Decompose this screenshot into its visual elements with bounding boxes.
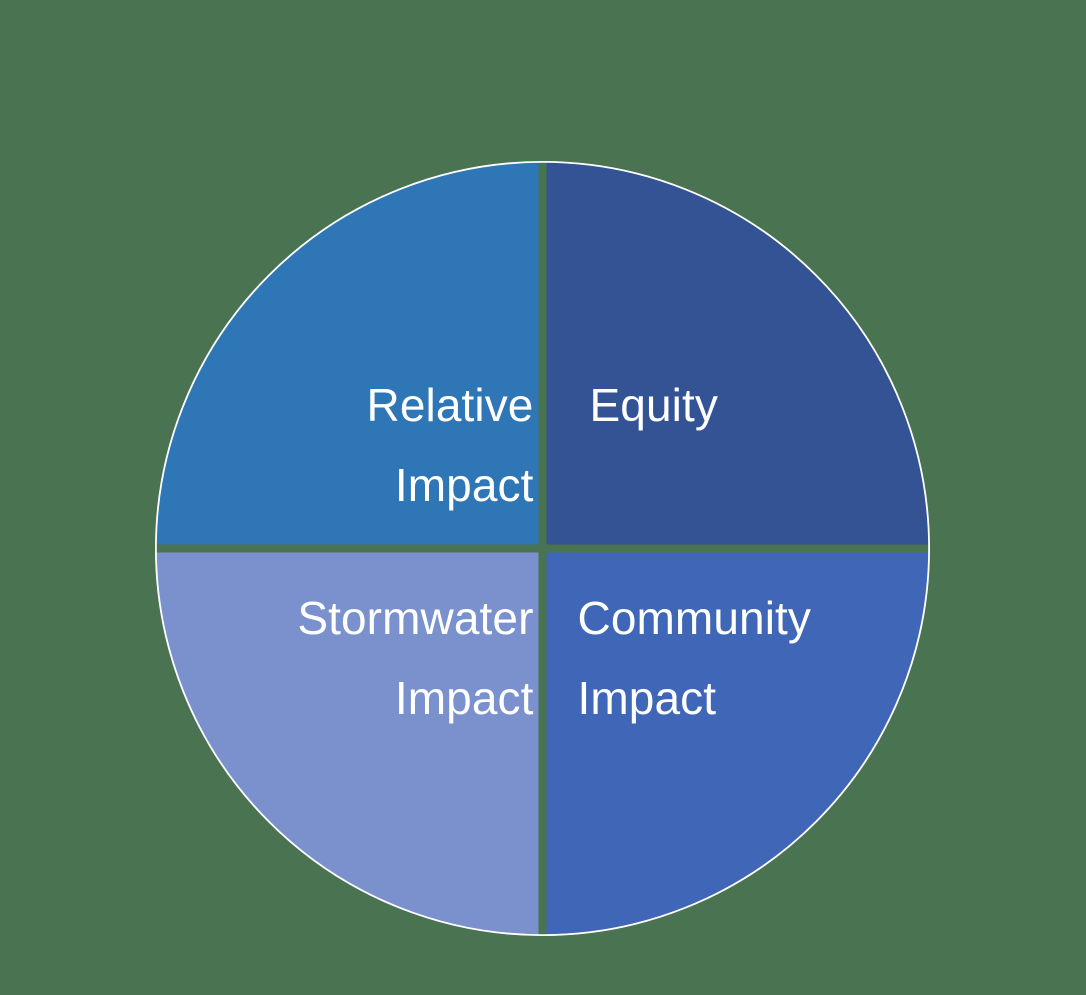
quadrant-equity[interactable] <box>546 161 930 545</box>
quadrant-label-equity: Equity <box>543 365 930 445</box>
quadrant-circle-graphic <box>155 161 930 936</box>
quadrant-label-stormwater-impact: Stormwater Impact <box>184 578 542 738</box>
quadrant-circle-diagram: Relative Impact Equity Stormwater Impact… <box>155 161 930 936</box>
quadrant-label-relative-impact: Relative Impact <box>204 365 542 525</box>
quadrant-label-community-impact: Community Impact <box>543 578 928 738</box>
diagram-canvas: Relative Impact Equity Stormwater Impact… <box>0 0 1086 995</box>
